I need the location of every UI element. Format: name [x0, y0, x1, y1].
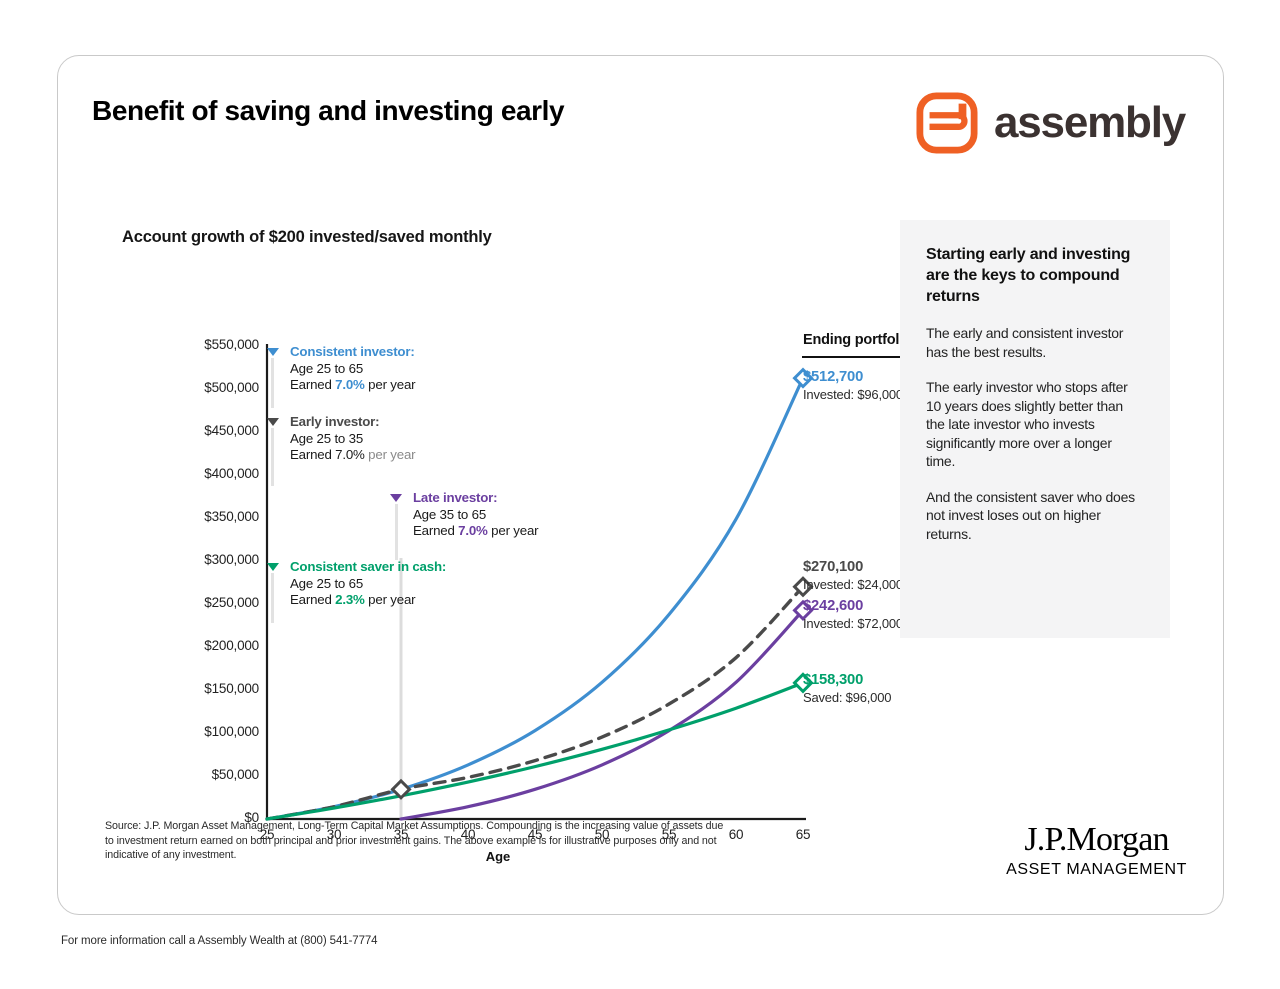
annotation-return-rate: Earned 2.3% per year [290, 592, 446, 609]
assembly-logo-wordmark: assembly [994, 98, 1185, 148]
annotation-early-investor: Early investor:Age 25 to 35Earned 7.0% p… [290, 414, 415, 464]
ending-portfolio-consistent-saver: $158,300Saved: $96,000 [803, 672, 891, 706]
annotation-pointer-icon [390, 494, 402, 502]
series-line-late-investor [401, 610, 803, 819]
ending-portfolio-value: $242,600 [803, 598, 903, 615]
annotation-leader-line [271, 358, 274, 408]
insight-panel: Starting early and investing are the key… [900, 220, 1170, 638]
ending-portfolio-contribution: Invested: $24,000 [803, 576, 903, 593]
y-axis-tick: $200,000 [163, 638, 259, 653]
annotation-title: Consistent investor: [290, 344, 415, 361]
insight-paragraph-3: And the consistent saver who does not in… [926, 488, 1144, 544]
y-axis-tick: $500,000 [163, 380, 259, 395]
ending-portfolio-late-investor: $242,600Invested: $72,000 [803, 598, 903, 632]
insight-panel-heading: Starting early and investing are the key… [926, 244, 1144, 307]
ending-portfolio-contribution: Saved: $96,000 [803, 689, 891, 706]
insight-paragraph-2: The early investor who stops after 10 ye… [926, 378, 1144, 471]
annotation-late-investor: Late investor:Age 35 to 65Earned 7.0% pe… [413, 490, 538, 540]
annotation-consistent-investor: Consistent investor:Age 25 to 65Earned 7… [290, 344, 415, 394]
annotation-leader-line [395, 504, 398, 560]
y-axis-tick: $50,000 [163, 767, 259, 782]
ending-portfolio-heading: Ending portfolio [803, 332, 912, 348]
jpmorgan-wordmark: J.P.Morgan [1006, 821, 1187, 859]
annotation-title: Early investor: [290, 414, 415, 431]
x-axis-tick: 65 [783, 827, 823, 842]
source-note: Source: J.P. Morgan Asset Management, Lo… [105, 819, 725, 863]
y-axis-tick: $100,000 [163, 724, 259, 739]
annotation-leader-line [271, 573, 274, 623]
annotation-age-range: Age 25 to 65 [290, 361, 415, 378]
chart-card: Benefit of saving and investing early as… [57, 55, 1224, 915]
series-line-early-investor [267, 587, 803, 819]
ending-portfolio-early-investor: $270,100Invested: $24,000 [803, 559, 903, 593]
annotation-age-range: Age 25 to 65 [290, 576, 446, 593]
chart-page: Benefit of saving and investing early as… [0, 0, 1280, 989]
annotation-age-range: Age 35 to 65 [413, 507, 538, 524]
y-axis-tick: $400,000 [163, 466, 259, 481]
annotation-return-rate: Earned 7.0% per year [290, 447, 415, 464]
annotation-return-rate: Earned 7.0% per year [290, 377, 415, 394]
y-axis-tick: $350,000 [163, 509, 259, 524]
jpmorgan-subline: ASSET MANAGEMENT [1006, 861, 1187, 879]
y-axis-tick: $300,000 [163, 552, 259, 567]
series-line-consistent-saver-in-cash [267, 683, 803, 819]
y-axis-tick: $250,000 [163, 595, 259, 610]
page-footer: For more information call a Assembly Wea… [61, 935, 377, 947]
insight-paragraph-1: The early and consistent investor has th… [926, 324, 1144, 361]
annotation-leader-line [271, 428, 274, 486]
y-axis-tick: $450,000 [163, 423, 259, 438]
annotation-consistent-saver: Consistent saver in cash:Age 25 to 65Ear… [290, 559, 446, 609]
ending-portfolio-value: $512,700 [803, 369, 903, 386]
ending-portfolio-contribution: Invested: $96,000 [803, 386, 903, 403]
annotation-age-range: Age 25 to 35 [290, 431, 415, 448]
chart-endpoint-markers [393, 370, 812, 798]
annotation-title: Late investor: [413, 490, 538, 507]
ending-portfolio-value: $270,100 [803, 559, 903, 576]
ending-portfolio-value: $158,300 [803, 672, 891, 689]
annotation-pointer-icon [267, 348, 279, 356]
jpmorgan-logo: J.P.Morgan ASSET MANAGEMENT [1006, 821, 1187, 879]
y-axis-tick: $550,000 [163, 337, 259, 352]
y-axis-tick: $150,000 [163, 681, 259, 696]
ending-portfolio-contribution: Invested: $72,000 [803, 615, 903, 632]
annotation-return-rate: Earned 7.0% per year [413, 523, 538, 540]
annotation-title: Consistent saver in cash: [290, 559, 446, 576]
annotation-pointer-icon [267, 563, 279, 571]
chart-plot-area: $0$50,000$100,000$150,000$200,000$250,00… [58, 56, 958, 856]
annotation-pointer-icon [267, 418, 279, 426]
ending-portfolio-consistent-investor: $512,700Invested: $96,000 [803, 369, 903, 403]
